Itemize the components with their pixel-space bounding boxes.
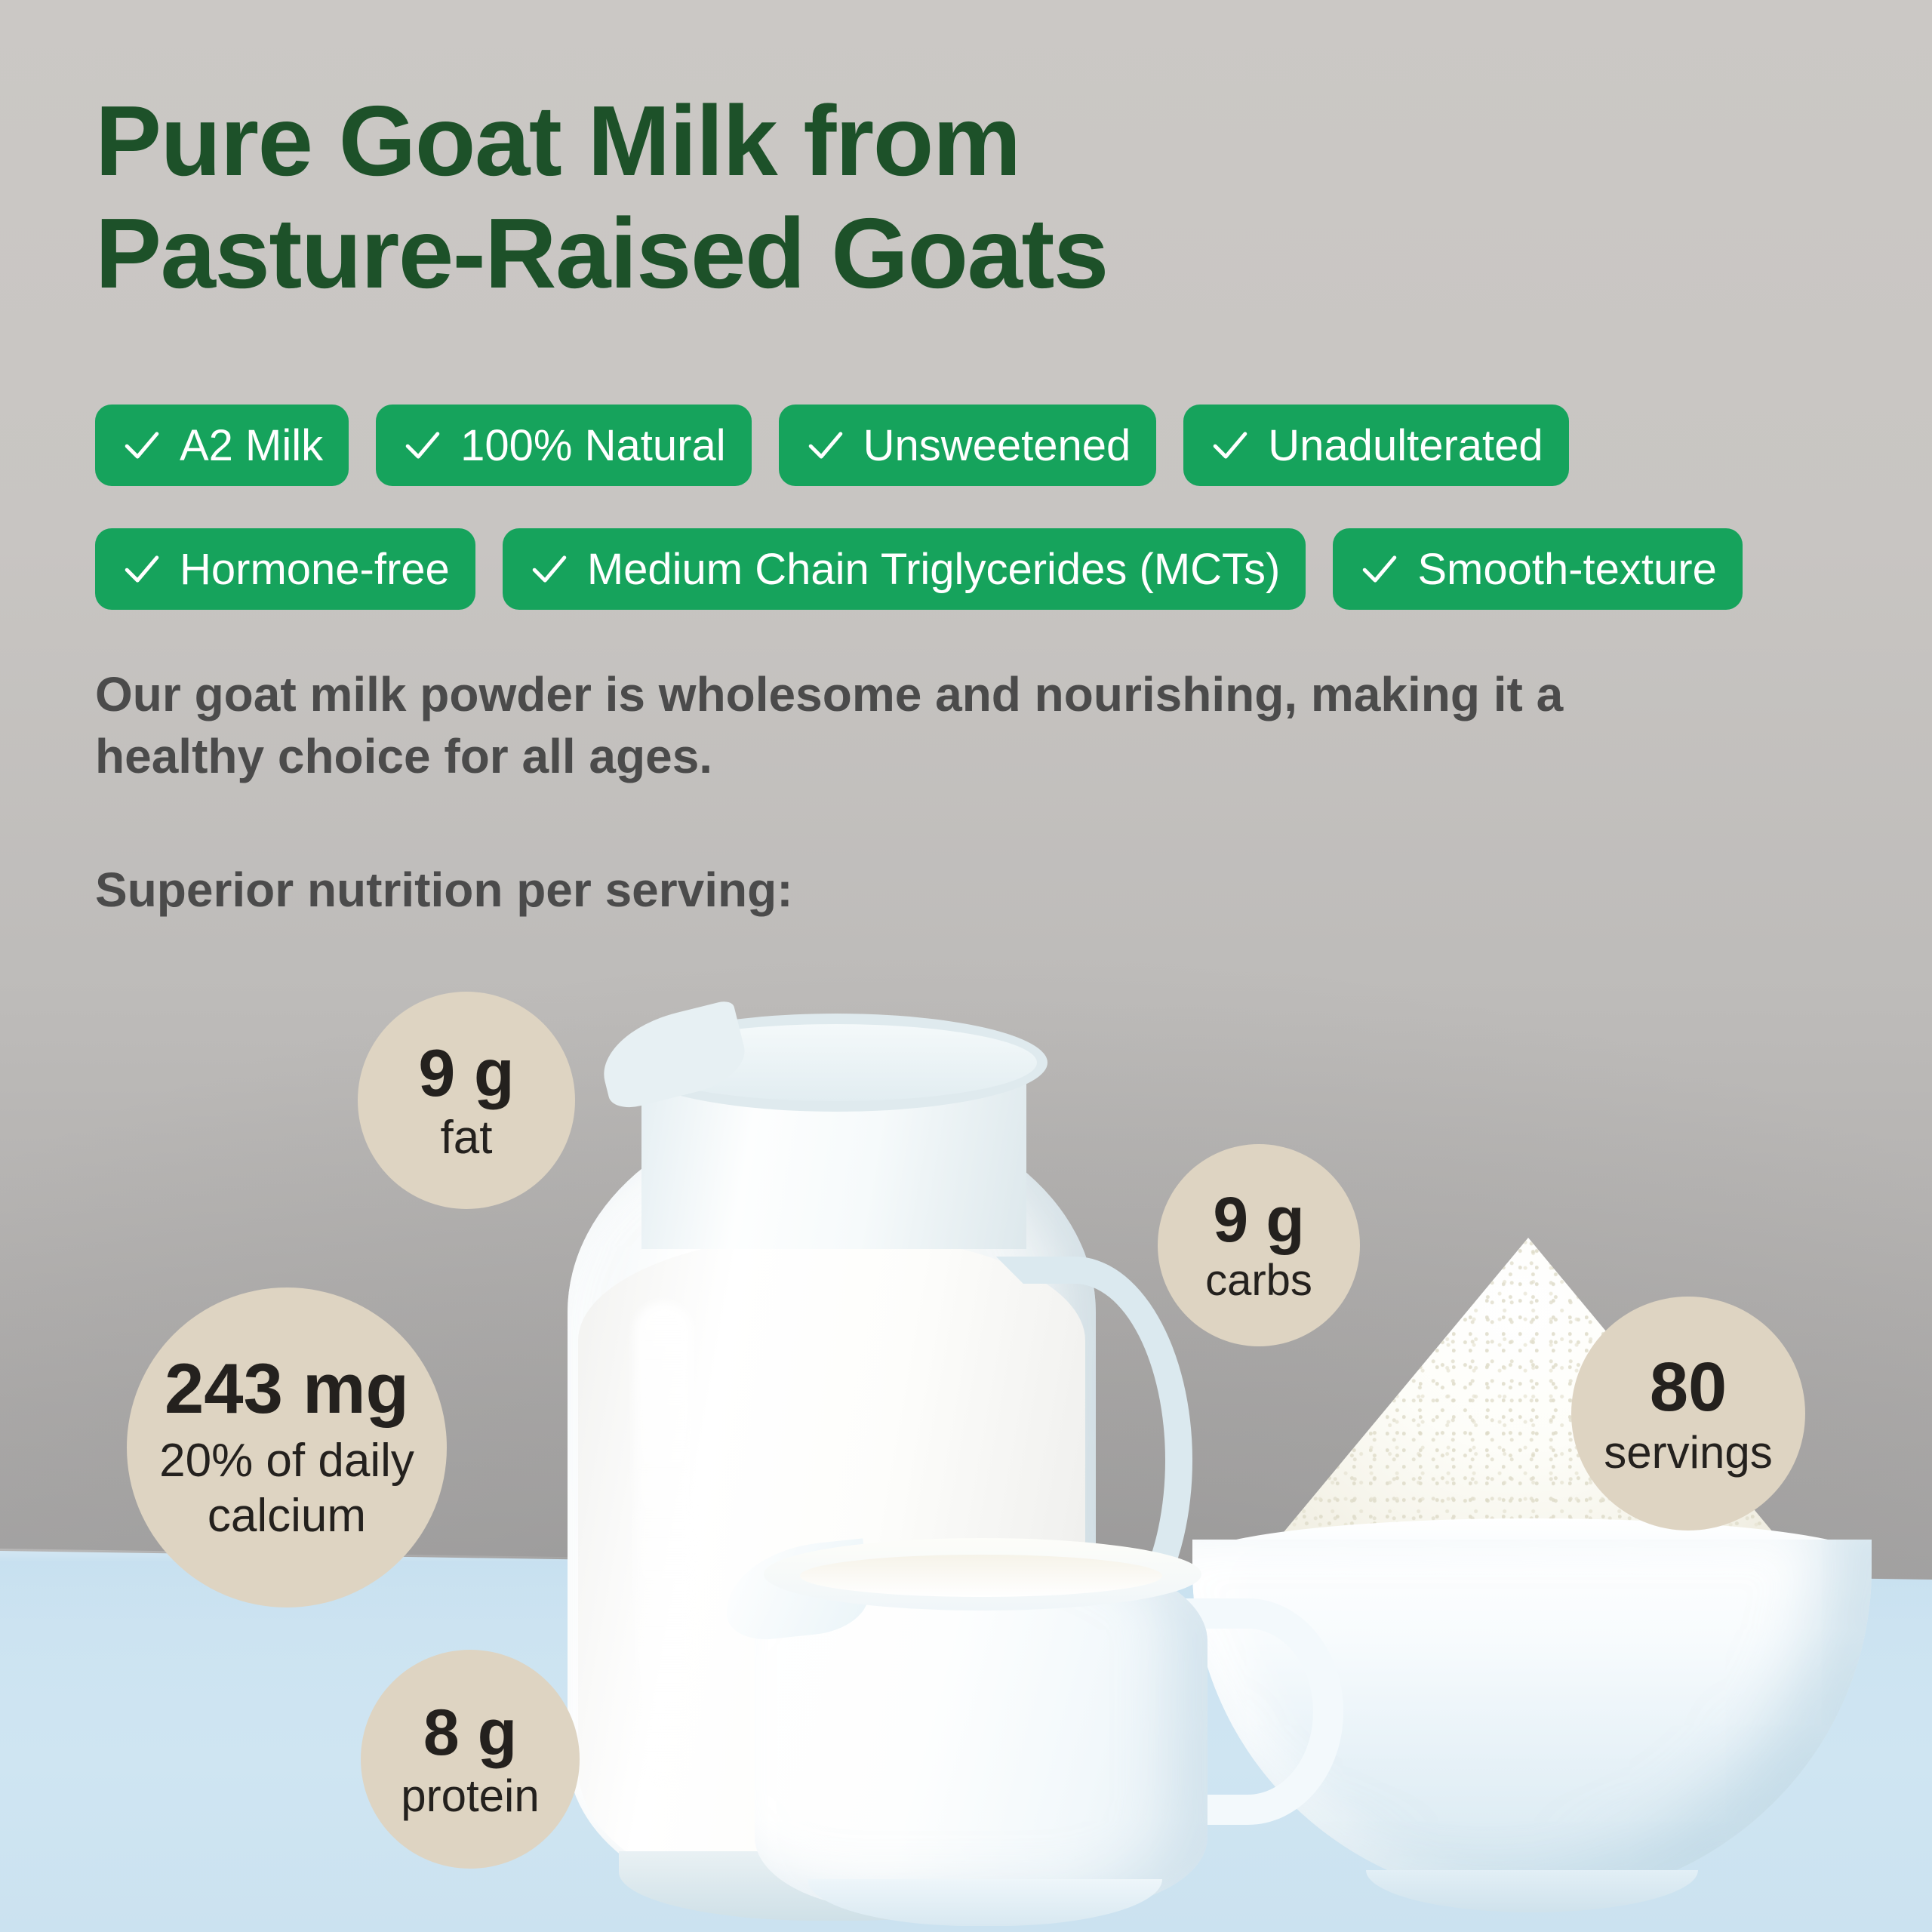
badge-smooth-texture[interactable]: Smooth-texture — [1333, 528, 1743, 610]
ceramic-creamer-pitcher — [724, 1502, 1351, 1924]
nutrition-value: 243 mg — [165, 1352, 409, 1426]
nutrition-bubble-servings: 80 servings — [1571, 1297, 1805, 1531]
nutrition-bubble-calcium: 243 mg 20% of daily calcium — [127, 1287, 447, 1607]
nutrition-bubble-fat: 9 g fat — [358, 992, 575, 1209]
check-icon — [1358, 548, 1401, 590]
check-icon — [804, 424, 847, 466]
creamer-base — [808, 1879, 1162, 1926]
check-icon — [1209, 424, 1251, 466]
check-icon — [401, 424, 444, 466]
badge-label: A2 Milk — [180, 420, 323, 471]
nutrition-bubble-carbs: 9 g carbs — [1158, 1144, 1360, 1346]
page-title: Pure Goat Milk from Pasture-Raised Goats — [95, 85, 1454, 309]
creamer-inner-milk — [800, 1555, 1162, 1597]
badge-a2-milk[interactable]: A2 Milk — [95, 405, 349, 486]
badge-label: Hormone-free — [180, 544, 450, 595]
badge-label: Medium Chain Triglycerides (MCTs) — [587, 544, 1281, 595]
badge-100-natural[interactable]: 100% Natural — [376, 405, 751, 486]
badge-unadulterated[interactable]: Unadulterated — [1183, 405, 1568, 486]
feature-badge-row-2: Hormone-free Medium Chain Triglycerides … — [95, 528, 1743, 610]
bowl-foot — [1366, 1870, 1698, 1912]
nutrition-label: servings — [1604, 1429, 1772, 1476]
nutrition-heading: Superior nutrition per serving: — [95, 862, 793, 918]
check-icon — [121, 424, 163, 466]
nutrition-label: carbs — [1205, 1258, 1312, 1304]
feature-badge-row-1: A2 Milk 100% Natural Unsweetened Unadult… — [95, 405, 1569, 486]
nutrition-value: 8 g — [423, 1699, 517, 1767]
badge-label: 100% Natural — [460, 420, 725, 471]
badge-label: Smooth-texture — [1417, 544, 1717, 595]
badge-label: Unsweetened — [863, 420, 1131, 471]
headline-line-2: Pasture-Raised Goats — [95, 197, 1454, 309]
badge-mcts[interactable]: Medium Chain Triglycerides (MCTs) — [503, 528, 1306, 610]
badge-label: Unadulterated — [1268, 420, 1543, 471]
nutrition-bubble-protein: 8 g protein — [361, 1650, 580, 1869]
check-icon — [528, 548, 571, 590]
nutrition-value: 80 — [1650, 1351, 1727, 1424]
pitcher-highlight — [634, 1302, 693, 1785]
headline-line-1: Pure Goat Milk from — [95, 85, 1454, 197]
nutrition-label: protein — [401, 1772, 539, 1820]
badge-unsweetened[interactable]: Unsweetened — [779, 405, 1157, 486]
check-icon — [121, 548, 163, 590]
nutrition-label: fat — [441, 1113, 493, 1162]
nutrition-label: 20% of daily calcium — [127, 1433, 447, 1543]
nutrition-value: 9 g — [418, 1038, 514, 1108]
lead-paragraph: Our goat milk powder is wholesome and no… — [95, 664, 1740, 788]
badge-hormone-free[interactable]: Hormone-free — [95, 528, 475, 610]
nutrition-value: 9 g — [1213, 1186, 1304, 1253]
